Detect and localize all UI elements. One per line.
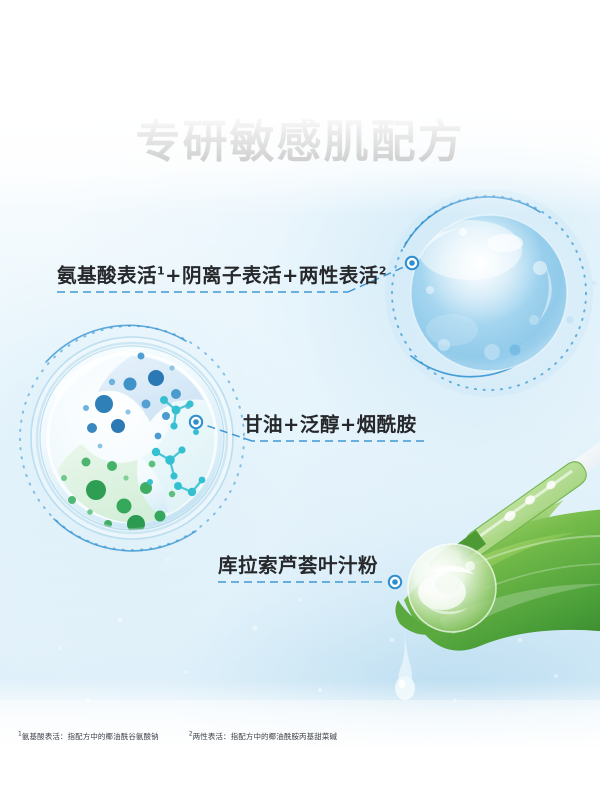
callout-label-surfactants: 氨基酸表活1+阴离子表活+两性表活2 bbox=[57, 264, 387, 287]
footnotes: 1氨基酸表活：指配方中的椰油酰谷氨酸钠 2两性表活：指配方中的椰油酰胺丙基甜菜碱 bbox=[18, 731, 337, 742]
footnote-marker-1: 1 bbox=[157, 265, 165, 278]
top-white-fade bbox=[0, 0, 600, 215]
footnote-2: 2两性表活：指配方中的椰油酰胺丙基甜菜碱 bbox=[189, 731, 337, 742]
callout-surfactants-prefix: 氨基酸表活 bbox=[57, 264, 157, 287]
callout-surfactants-middle: +阴离子表活+两性表活 bbox=[165, 264, 379, 287]
product-poster: Cetaphil. 丝塔芙. 专研敏感肌配方 bbox=[0, 0, 600, 800]
footnote-2-text: 两性表活：指配方中的椰油酰胺丙基甜菜碱 bbox=[193, 732, 337, 741]
callout-label-aloe: 库拉索芦荟叶汁粉 bbox=[218, 554, 378, 577]
footnote-1: 1氨基酸表活：指配方中的椰油酰谷氨酸钠 bbox=[18, 731, 159, 742]
callout-label-moisturizers: 甘油+泛醇+烟酰胺 bbox=[243, 413, 417, 436]
footnote-marker-2: 2 bbox=[379, 265, 387, 278]
footnote-1-text: 氨基酸表活：指配方中的椰油酰谷氨酸钠 bbox=[22, 732, 159, 741]
